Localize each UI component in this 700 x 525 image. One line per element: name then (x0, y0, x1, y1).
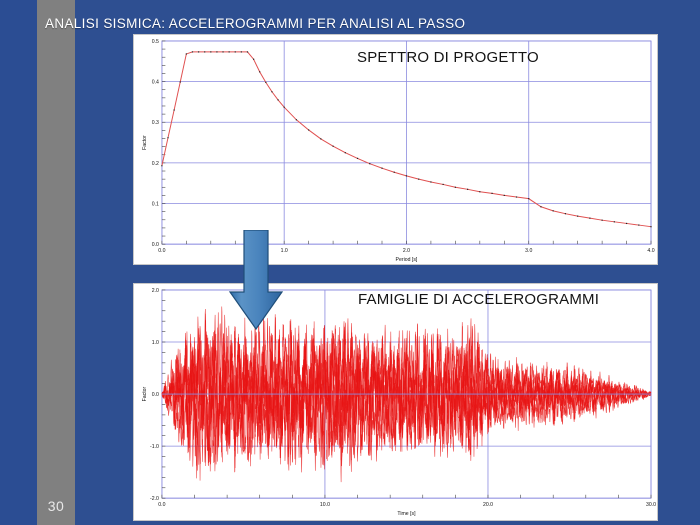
svg-text:10.0: 10.0 (320, 502, 330, 508)
chart-accelerogrammi-title: FAMIGLIE DI ACCELEROGRAMMI (358, 291, 599, 308)
svg-text:-1.0: -1.0 (150, 444, 159, 450)
svg-text:0.1: 0.1 (152, 202, 159, 208)
slide-left-band (0, 0, 37, 525)
svg-text:0.0: 0.0 (158, 248, 165, 254)
svg-text:1.0: 1.0 (152, 340, 159, 346)
svg-text:30.0: 30.0 (646, 502, 656, 508)
page-number: 30 (40, 498, 72, 514)
svg-text:Factor: Factor (142, 387, 148, 402)
svg-text:20.0: 20.0 (483, 502, 493, 508)
accelerogrammi-plot-svg: -2.0-1.00.01.02.00.010.020.030.0FactorTi… (134, 284, 657, 520)
slide-canvas: 30 ANALISI SISMICA: ACCELEROGRAMMI PER A… (0, 0, 700, 525)
svg-text:2.0: 2.0 (403, 248, 410, 254)
svg-text:0.0: 0.0 (152, 392, 159, 398)
svg-text:4.0: 4.0 (647, 248, 654, 254)
svg-text:Period [s]: Period [s] (396, 257, 418, 263)
svg-text:0.5: 0.5 (152, 39, 159, 45)
chart-spettro-title: SPETTRO DI PROGETTO (357, 49, 539, 66)
sidebar-gray-band (37, 0, 75, 525)
svg-text:Time [s]: Time [s] (397, 511, 416, 517)
chart-famiglie-di-accelerogrammi: -2.0-1.00.01.02.00.010.020.030.0FactorTi… (133, 283, 658, 521)
svg-text:2.0: 2.0 (152, 288, 159, 294)
svg-text:0.2: 0.2 (152, 161, 159, 167)
svg-text:0.0: 0.0 (158, 502, 165, 508)
down-arrow-icon (228, 230, 284, 330)
svg-text:Factor: Factor (142, 135, 148, 150)
spettro-plot-svg: 0.00.10.20.30.40.50.01.02.03.04.0FactorP… (134, 35, 657, 264)
svg-text:3.0: 3.0 (525, 248, 532, 254)
chart-spettro-di-progetto: 0.00.10.20.30.40.50.01.02.03.04.0FactorP… (133, 34, 658, 265)
svg-text:0.4: 0.4 (152, 80, 159, 86)
page-title: ANALISI SISMICA: ACCELEROGRAMMI PER ANAL… (45, 16, 465, 31)
svg-text:0.3: 0.3 (152, 120, 159, 126)
